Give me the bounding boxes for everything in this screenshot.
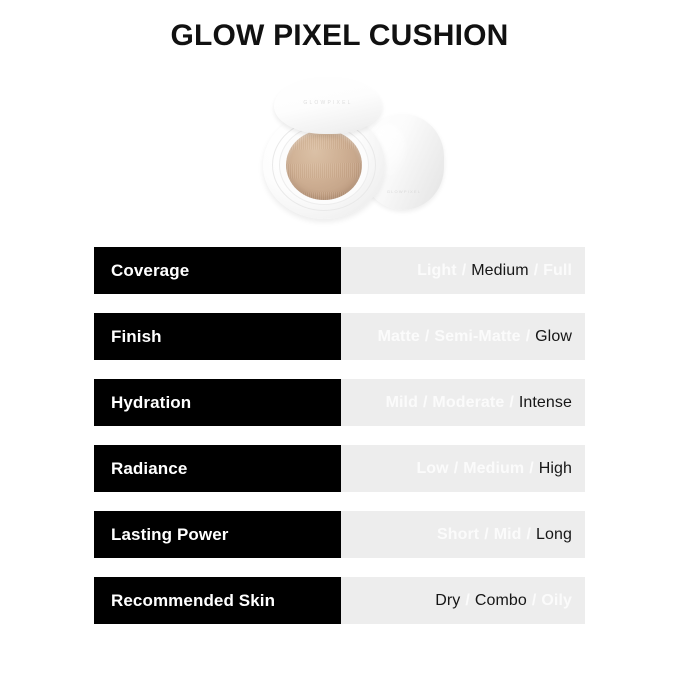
spec-option: Matte: [378, 328, 420, 346]
spec-row-label: Coverage: [94, 247, 341, 294]
spec-option: Low: [416, 460, 448, 478]
spec-row-label: Lasting Power: [94, 511, 341, 558]
spec-option-selected: Long: [536, 526, 572, 544]
spec-row-label: Finish: [94, 313, 341, 360]
spec-option: Medium: [463, 460, 524, 478]
spec-option: Mild: [386, 394, 418, 412]
spec-row: CoverageLight/Medium/Full: [94, 247, 585, 294]
foundation-cushion: [286, 130, 362, 200]
lid-brand-text: GLOWPIXEL: [378, 189, 430, 194]
product-spec-page: GLOW PIXEL CUSHION GLOWPIXEL GLOWPIXEL C…: [0, 0, 679, 679]
spec-row: Lasting PowerShort/Mid/Long: [94, 511, 585, 558]
cushion-texture: [286, 130, 362, 200]
spec-option: Full: [543, 262, 572, 280]
option-separator: /: [527, 592, 541, 610]
spec-option: Oily: [541, 592, 572, 610]
spec-row-values: Light/Medium/Full: [341, 247, 585, 294]
option-separator: /: [457, 262, 471, 280]
spec-option-selected: Intense: [519, 394, 572, 412]
spec-option-selected: Combo: [475, 592, 527, 610]
spec-option-selected: Medium: [471, 262, 529, 280]
option-separator: /: [460, 592, 474, 610]
option-separator: /: [524, 460, 538, 478]
spec-option: Short: [437, 526, 479, 544]
puff-brand-text: GLOWPIXEL: [274, 100, 382, 106]
option-separator: /: [504, 394, 518, 412]
product-image: GLOWPIXEL GLOWPIXEL: [258, 78, 463, 223]
spec-row-values: Mild/Moderate/Intense: [341, 379, 585, 426]
spec-row-values: Short/Mid/Long: [341, 511, 585, 558]
spec-row-label: Recommended Skin: [94, 577, 341, 624]
spec-table: CoverageLight/Medium/FullFinishMatte/Sem…: [94, 247, 585, 624]
option-separator: /: [521, 328, 535, 346]
spec-row: FinishMatte/Semi-Matte/Glow: [94, 313, 585, 360]
spec-row-values: Low/Medium/High: [341, 445, 585, 492]
option-separator: /: [449, 460, 463, 478]
spec-option-selected: Dry: [435, 592, 460, 610]
spec-option: Semi-Matte: [434, 328, 520, 346]
spec-option-selected: High: [539, 460, 572, 478]
spec-option: Moderate: [432, 394, 504, 412]
spec-option: Light: [417, 262, 457, 280]
spec-option-selected: Glow: [535, 328, 572, 346]
spec-option: Mid: [494, 526, 522, 544]
spec-row-values: Dry/Combo/Oily: [341, 577, 585, 624]
spec-row: RadianceLow/Medium/High: [94, 445, 585, 492]
option-separator: /: [529, 262, 543, 280]
spec-row-values: Matte/Semi-Matte/Glow: [341, 313, 585, 360]
compact-top-puff: GLOWPIXEL: [274, 78, 382, 134]
option-separator: /: [479, 526, 493, 544]
spec-row: Recommended SkinDry/Combo/Oily: [94, 577, 585, 624]
spec-row-label: Hydration: [94, 379, 341, 426]
option-separator: /: [420, 328, 434, 346]
page-title: GLOW PIXEL CUSHION: [0, 16, 679, 56]
spec-row-label: Radiance: [94, 445, 341, 492]
spec-row: HydrationMild/Moderate/Intense: [94, 379, 585, 426]
option-separator: /: [418, 394, 432, 412]
option-separator: /: [522, 526, 536, 544]
